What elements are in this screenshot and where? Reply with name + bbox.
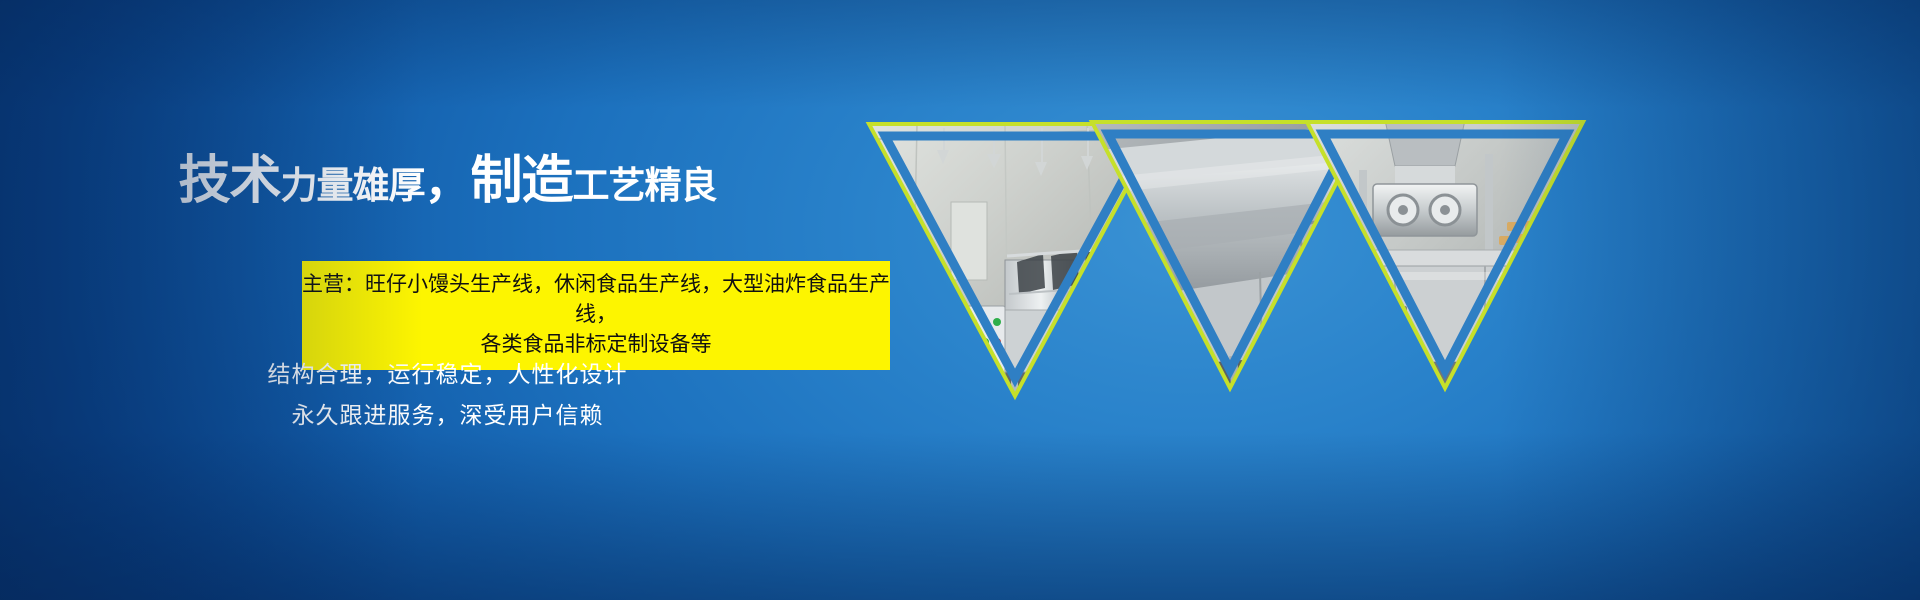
photo-panel-right-svg — [1295, 110, 1595, 410]
headline: 技术力量雄厚，制造工艺精良 — [0, 155, 895, 207]
headline-comma: ， — [425, 155, 471, 209]
promo-banner: 技术力量雄厚，制造工艺精良 主营：旺仔小馒头生产线，休闲食品生产线，大型油炸食品… — [0, 0, 1920, 600]
headline-segment-1: 技术 — [178, 151, 280, 211]
headline-segment-4: 工艺精良 — [573, 164, 717, 207]
photo-triangle-cluster — [855, 110, 1515, 440]
highlight-line-1: 主营：旺仔小馒头生产线，休闲食品生产线，大型油炸食品生产线， — [302, 270, 890, 330]
banner-text-block: 技术力量雄厚，制造工艺精良 主营：旺仔小馒头生产线，休闲食品生产线，大型油炸食品… — [0, 0, 900, 600]
photo-panel-right — [1295, 110, 1595, 410]
headline-segment-3: 制造 — [471, 151, 573, 211]
subtitle-line-2: 永久跟进服务，深受用户信赖 — [0, 396, 895, 437]
subtitle-line-1: 结构合理，运行稳定，人性化设计 — [0, 355, 895, 396]
headline-segment-2: 力量雄厚 — [281, 164, 425, 207]
subtitle: 结构合理，运行稳定，人性化设计 永久跟进服务，深受用户信赖 — [0, 355, 895, 437]
